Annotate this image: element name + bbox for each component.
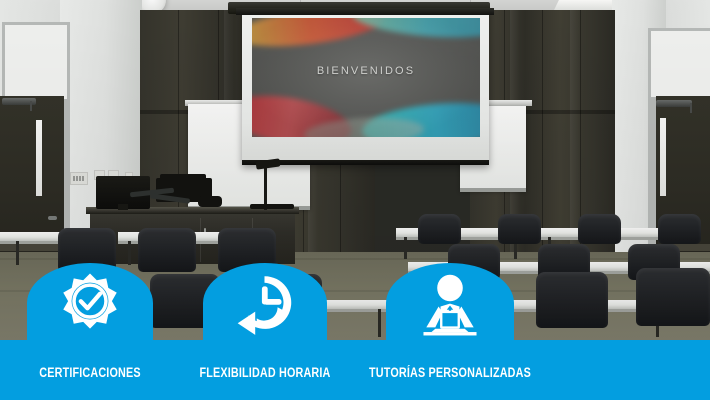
feature-label: TUTORÍAS PERSONALIZADAS [349,365,551,380]
person-laptop-icon [386,263,514,343]
clock-arrow-icon [203,263,327,343]
badge-check-icon [27,263,153,343]
feature-label: FLEXIBILIDAD HORARIA [182,365,348,380]
feature-label: CERTIFICACIONES [22,365,158,380]
screenshot-root: BIENVENIDOS [0,0,710,400]
